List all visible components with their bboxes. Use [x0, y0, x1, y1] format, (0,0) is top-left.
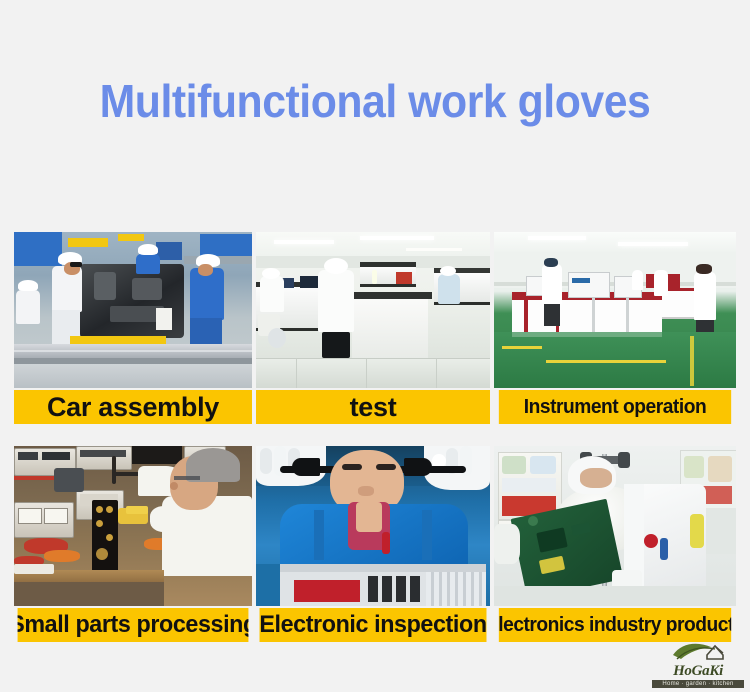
page-title: Multifunctional work gloves [26, 74, 724, 128]
label-small-parts-processing: Small parts processing [18, 608, 249, 642]
watermark-logo: HoGaKi Home · garden · kitchen [652, 639, 744, 688]
leaf-house-icon [671, 639, 725, 663]
label-car-assembly: Car assembly [14, 390, 252, 424]
panel-electronic-inspection[interactable]: Electronic inspection [256, 446, 490, 642]
photo-test [256, 232, 490, 388]
panel-electronics-industry-products[interactable]: Electronics industry products [494, 446, 736, 642]
panel-instrument-operation[interactable]: Instrument operation [494, 232, 736, 424]
panel-test[interactable]: test [256, 232, 490, 424]
photo-electronics-industry-products [494, 446, 736, 606]
label-test: test [256, 390, 490, 424]
gallery-row: Car assembly [14, 232, 736, 424]
photo-instrument-operation [494, 232, 736, 388]
gallery-row: Small parts processing [14, 446, 736, 642]
watermark-brand: HoGaKi [652, 664, 744, 679]
watermark-tagline: Home · garden · kitchen [652, 680, 744, 688]
product-banner: Multifunctional work gloves [0, 0, 750, 692]
panel-small-parts-processing[interactable]: Small parts processing [14, 446, 252, 642]
label-electronics-industry-products: Electronics industry products [499, 608, 731, 642]
application-gallery: Car assembly [14, 232, 736, 642]
label-instrument-operation: Instrument operation [499, 390, 731, 424]
photo-electronic-inspection [256, 446, 490, 606]
photo-car-assembly [14, 232, 252, 388]
label-electronic-inspection: Electronic inspection [260, 608, 487, 642]
photo-small-parts-processing [14, 446, 252, 606]
panel-car-assembly[interactable]: Car assembly [14, 232, 252, 424]
